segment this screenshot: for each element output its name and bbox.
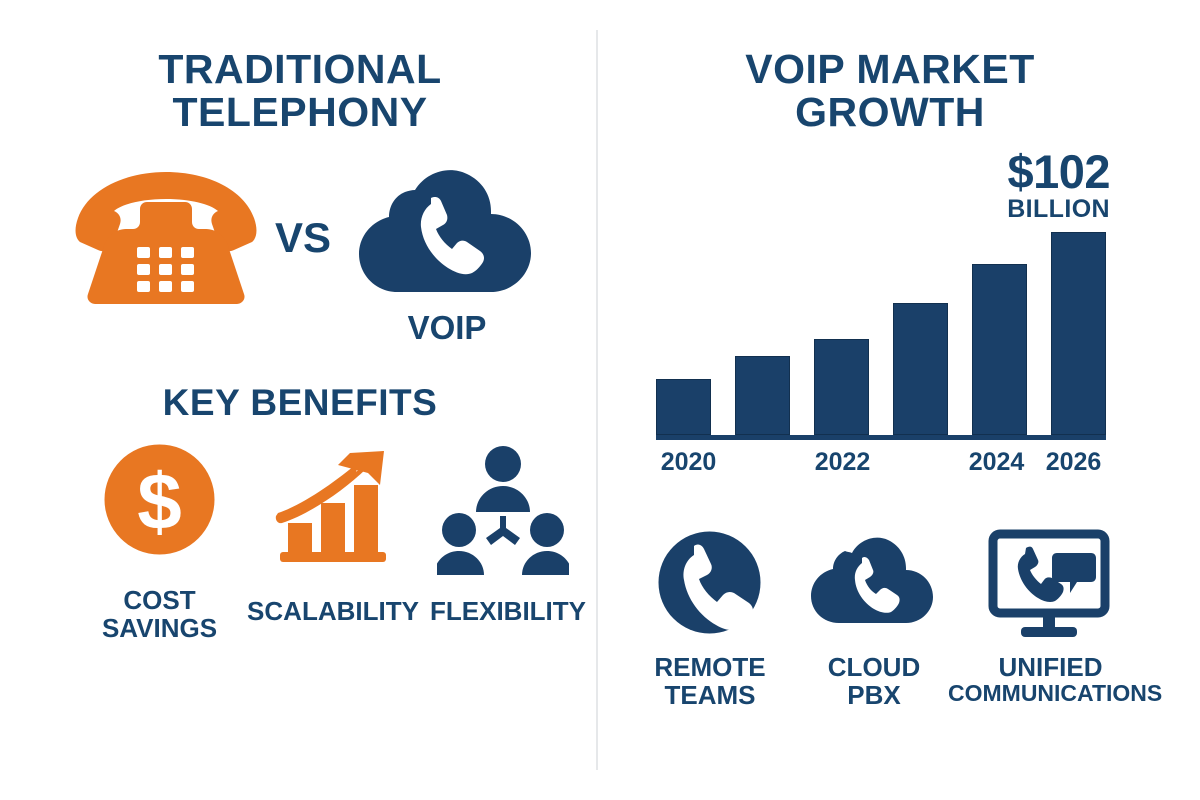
chart-x-tick-label: 2022 — [798, 448, 888, 477]
cloud-phone-icon — [808, 531, 938, 633]
voip-label: VOIP — [352, 310, 542, 346]
chart-bars — [656, 220, 1106, 435]
market-value-callout: $102 BILLION — [930, 148, 1110, 224]
vs-label: VS — [258, 214, 348, 262]
growth-chart-icon — [272, 447, 394, 569]
cost-savings-line2: SAVINGS — [102, 613, 217, 643]
cloud-phone-icon — [352, 158, 542, 308]
chart-x-tick-label: 2026 — [1029, 448, 1119, 477]
benefit-label-cost-savings: COST SAVINGS — [72, 586, 247, 642]
key-benefits-title: KEY BENEFITS — [30, 384, 570, 423]
remote-teams-line1: REMOTE — [654, 652, 765, 682]
left-title-line2: TELEPHONY — [172, 89, 427, 135]
cloud-pbx-line2: PBX — [847, 680, 900, 710]
chart-bar — [893, 303, 948, 435]
dollar-coin-icon: $ — [103, 443, 216, 556]
monitor-phone-chat-icon — [985, 528, 1113, 640]
left-title-line1: TRADITIONAL — [158, 46, 441, 92]
right-title-line1: VOIP MARKET — [745, 46, 1035, 92]
cost-savings-line1: COST — [123, 585, 195, 615]
callout-value: $102 — [930, 148, 1110, 195]
chart-bar — [814, 339, 869, 435]
infographic-canvas: TRADITIONAL TELEPHONY — [0, 0, 1200, 800]
unified-line1: UNIFIED — [999, 652, 1103, 682]
chart-x-tick-label: 2020 — [644, 448, 734, 477]
feature-label-cloud-pbx: CLOUD PBX — [798, 653, 950, 709]
remote-teams-line2: TEAMS — [665, 680, 756, 710]
market-growth-bar-chart — [656, 215, 1106, 440]
chart-bar — [656, 379, 711, 435]
unified-line2: COMMUNICATIONS — [948, 681, 1153, 706]
chart-bar — [972, 264, 1027, 435]
chart-bar — [1051, 232, 1106, 435]
right-panel-title: VOIP MARKET GROWTH — [620, 48, 1160, 134]
desk-telephone-icon — [66, 168, 266, 304]
benefit-label-flexibility: FLEXIBILITY — [424, 597, 592, 625]
benefit-label-scalability: SCALABILITY — [243, 597, 423, 625]
chart-x-axis-tick-labels: 2020202220242026 — [650, 448, 1112, 478]
chart-x-axis-line — [656, 435, 1106, 440]
right-title-line2: GROWTH — [795, 89, 985, 135]
chart-bar — [735, 356, 790, 435]
svg-text:$: $ — [137, 457, 182, 546]
panel-divider — [596, 30, 598, 770]
phone-circle-icon — [657, 530, 762, 635]
people-network-icon — [437, 444, 569, 576]
cloud-pbx-line1: CLOUD — [828, 652, 920, 682]
feature-label-unified-communications: UNIFIED COMMUNICATIONS — [948, 653, 1153, 706]
feature-label-remote-teams: REMOTE TEAMS — [632, 653, 788, 709]
left-panel-title: TRADITIONAL TELEPHONY — [30, 48, 570, 134]
